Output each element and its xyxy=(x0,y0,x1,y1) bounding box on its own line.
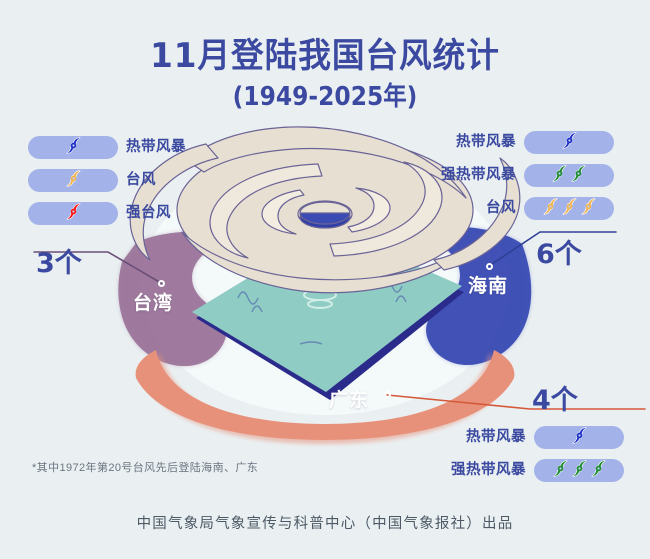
legend-pill-hainan-2[interactable] xyxy=(524,197,614,220)
legend-label-taiwan-2: 强台风 xyxy=(126,202,171,225)
typhoon-icon xyxy=(561,132,578,154)
typhoon-icon xyxy=(65,170,82,192)
count-taiwan: 3个 xyxy=(36,241,82,280)
page-subtitle: (1949-2025年) xyxy=(33,76,618,113)
legend-label-hainan-0: 热带风暴 xyxy=(404,131,516,154)
legend-pill-hainan-1[interactable] xyxy=(524,164,614,187)
map-marker-hainan xyxy=(486,263,493,270)
typhoon-icon xyxy=(580,198,597,220)
typhoon-icon xyxy=(561,198,578,220)
typhoon-icon xyxy=(571,427,588,449)
legend-pill-taiwan-0[interactable] xyxy=(28,136,118,159)
legend-pill-hainan-0[interactable] xyxy=(524,131,614,154)
legend-pill-taiwan-1[interactable] xyxy=(28,169,118,192)
map-marker-guangdong xyxy=(384,391,391,398)
center-halo xyxy=(140,155,510,415)
typhoon-icon xyxy=(552,460,569,482)
sea-surface xyxy=(192,228,464,400)
legend-pill-guangdong-0[interactable] xyxy=(534,426,624,449)
legend-pill-guangdong-1[interactable] xyxy=(534,459,624,482)
legend-pill-taiwan-2[interactable] xyxy=(28,202,118,225)
legend-label-hainan-1: 强热带风暴 xyxy=(404,164,516,187)
typhoon-icon xyxy=(65,137,82,159)
legend-label-guangdong-0: 热带风暴 xyxy=(414,426,526,449)
legend-label-guangdong-1: 强热带风暴 xyxy=(414,459,526,482)
count-hainan: 6个 xyxy=(536,232,582,271)
typhoon-icon xyxy=(590,460,607,482)
typhoon-icon xyxy=(571,460,588,482)
map-marker-taiwan xyxy=(158,280,165,287)
infographic-root: 11月登陆我国台风统计 (1949-2025年) xyxy=(0,0,650,559)
typhoon-icon xyxy=(65,203,82,225)
page-title: 11月登陆我国台风统计 xyxy=(13,28,637,77)
region-label-hainan: 海南 xyxy=(468,271,508,298)
count-guangdong: 4个 xyxy=(532,378,578,417)
region-label-taiwan: 台湾 xyxy=(133,288,173,315)
credit-line: 中国气象局气象宣传与科普中心（中国气象报社）出品 xyxy=(0,512,650,533)
typhoon-icon xyxy=(570,165,587,187)
region-label-guangdong: 广东 xyxy=(329,385,369,412)
legend-label-taiwan-0: 热带风暴 xyxy=(126,136,186,159)
typhoon-icon xyxy=(551,165,568,187)
legend-label-taiwan-1: 台风 xyxy=(126,169,156,192)
leader-line-guangdong xyxy=(387,395,645,409)
typhoon-icon xyxy=(542,198,559,220)
footnote: *其中1972年第20号台风先后登陆海南、广东 xyxy=(32,459,258,475)
legend-label-hainan-2: 台风 xyxy=(404,197,516,220)
